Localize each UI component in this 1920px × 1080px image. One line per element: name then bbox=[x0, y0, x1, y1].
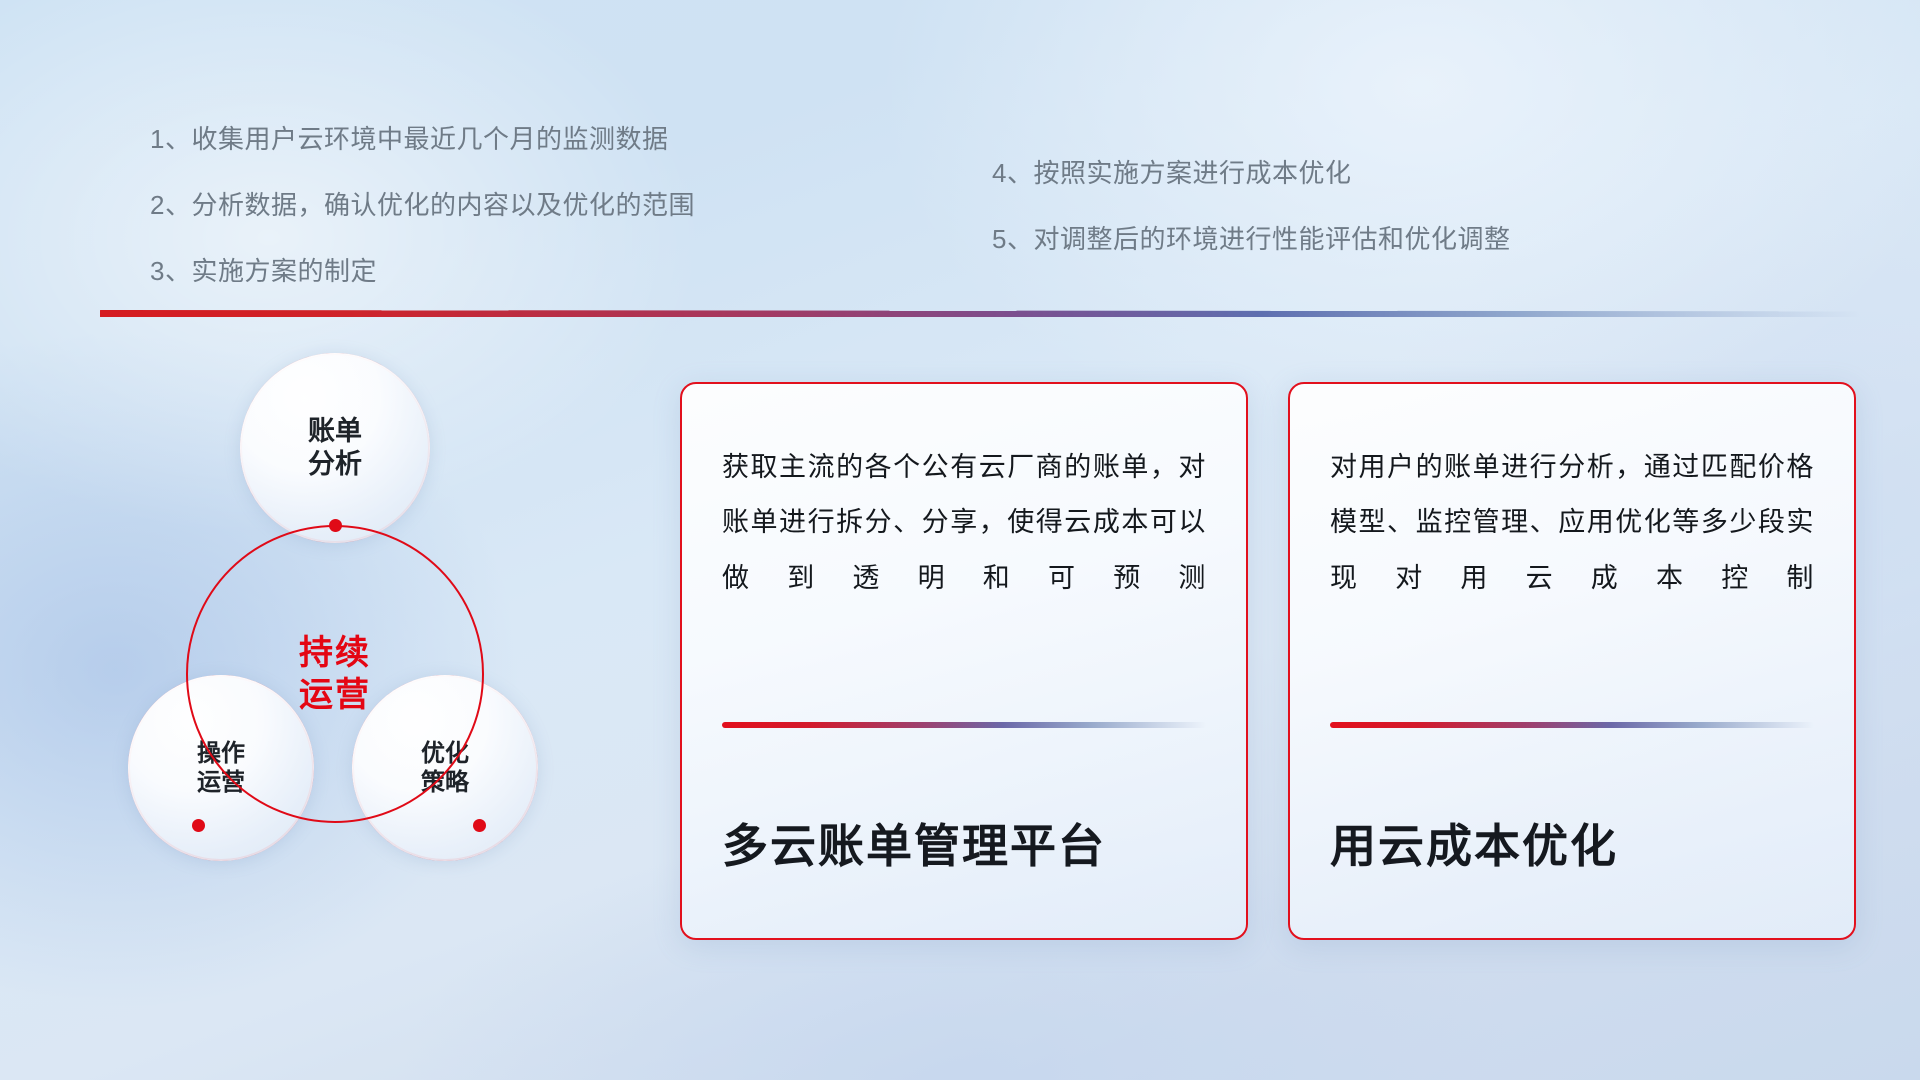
feature-card-multicloud-billing[interactable]: 获取主流的各个公有云厂商的账单，对账单进行拆分、分享，使得云成本可以做到透明和可… bbox=[680, 382, 1248, 940]
list-item: 2、分析数据，确认优化的内容以及优化的范围 bbox=[150, 192, 695, 218]
venn-junction-dot-top bbox=[329, 519, 342, 532]
venn-junction-dot-left bbox=[192, 819, 205, 832]
slide-canvas: 1、收集用户云环境中最近几个月的监测数据 2、分析数据，确认优化的内容以及优化的… bbox=[0, 0, 1920, 1080]
steps-list-right: 4、按照实施方案进行成本优化 5、对调整后的环境进行性能评估和优化调整 bbox=[992, 160, 1510, 292]
venn-node-billing-analysis[interactable]: 账单分析 bbox=[240, 353, 430, 543]
feature-card-cloud-cost-optimization[interactable]: 对用户的账单进行分析，通过匹配价格模型、监控管理、应用优化等多少段实现对用云成本… bbox=[1288, 382, 1856, 940]
venn-junction-dot-right bbox=[473, 819, 486, 832]
card-title: 用云成本优化 bbox=[1330, 810, 1618, 876]
card-body-text: 对用户的账单进行分析，通过匹配价格模型、监控管理、应用优化等多少段实现对用云成本… bbox=[1330, 440, 1814, 606]
card-divider bbox=[722, 722, 1206, 728]
venn-node-label: 账单分析 bbox=[308, 415, 362, 481]
card-divider bbox=[1330, 722, 1814, 728]
section-divider bbox=[100, 310, 1860, 317]
card-title: 多云账单管理平台 bbox=[722, 810, 1106, 876]
venn-center-label: 持续运营 bbox=[186, 525, 484, 823]
list-item: 3、实施方案的制定 bbox=[150, 258, 695, 284]
venn-center-text: 持续运营 bbox=[299, 632, 371, 717]
list-item: 1、收集用户云环境中最近几个月的监测数据 bbox=[150, 126, 695, 152]
list-item: 4、按照实施方案进行成本优化 bbox=[992, 160, 1510, 186]
card-body-text: 获取主流的各个公有云厂商的账单，对账单进行拆分、分享，使得云成本可以做到透明和可… bbox=[722, 440, 1206, 606]
list-item: 5、对调整后的环境进行性能评估和优化调整 bbox=[992, 226, 1510, 252]
venn-diagram: 账单分析 操作运营 优化策略 持续运营 bbox=[100, 345, 640, 925]
steps-list-left: 1、收集用户云环境中最近几个月的监测数据 2、分析数据，确认优化的内容以及优化的… bbox=[150, 126, 695, 324]
